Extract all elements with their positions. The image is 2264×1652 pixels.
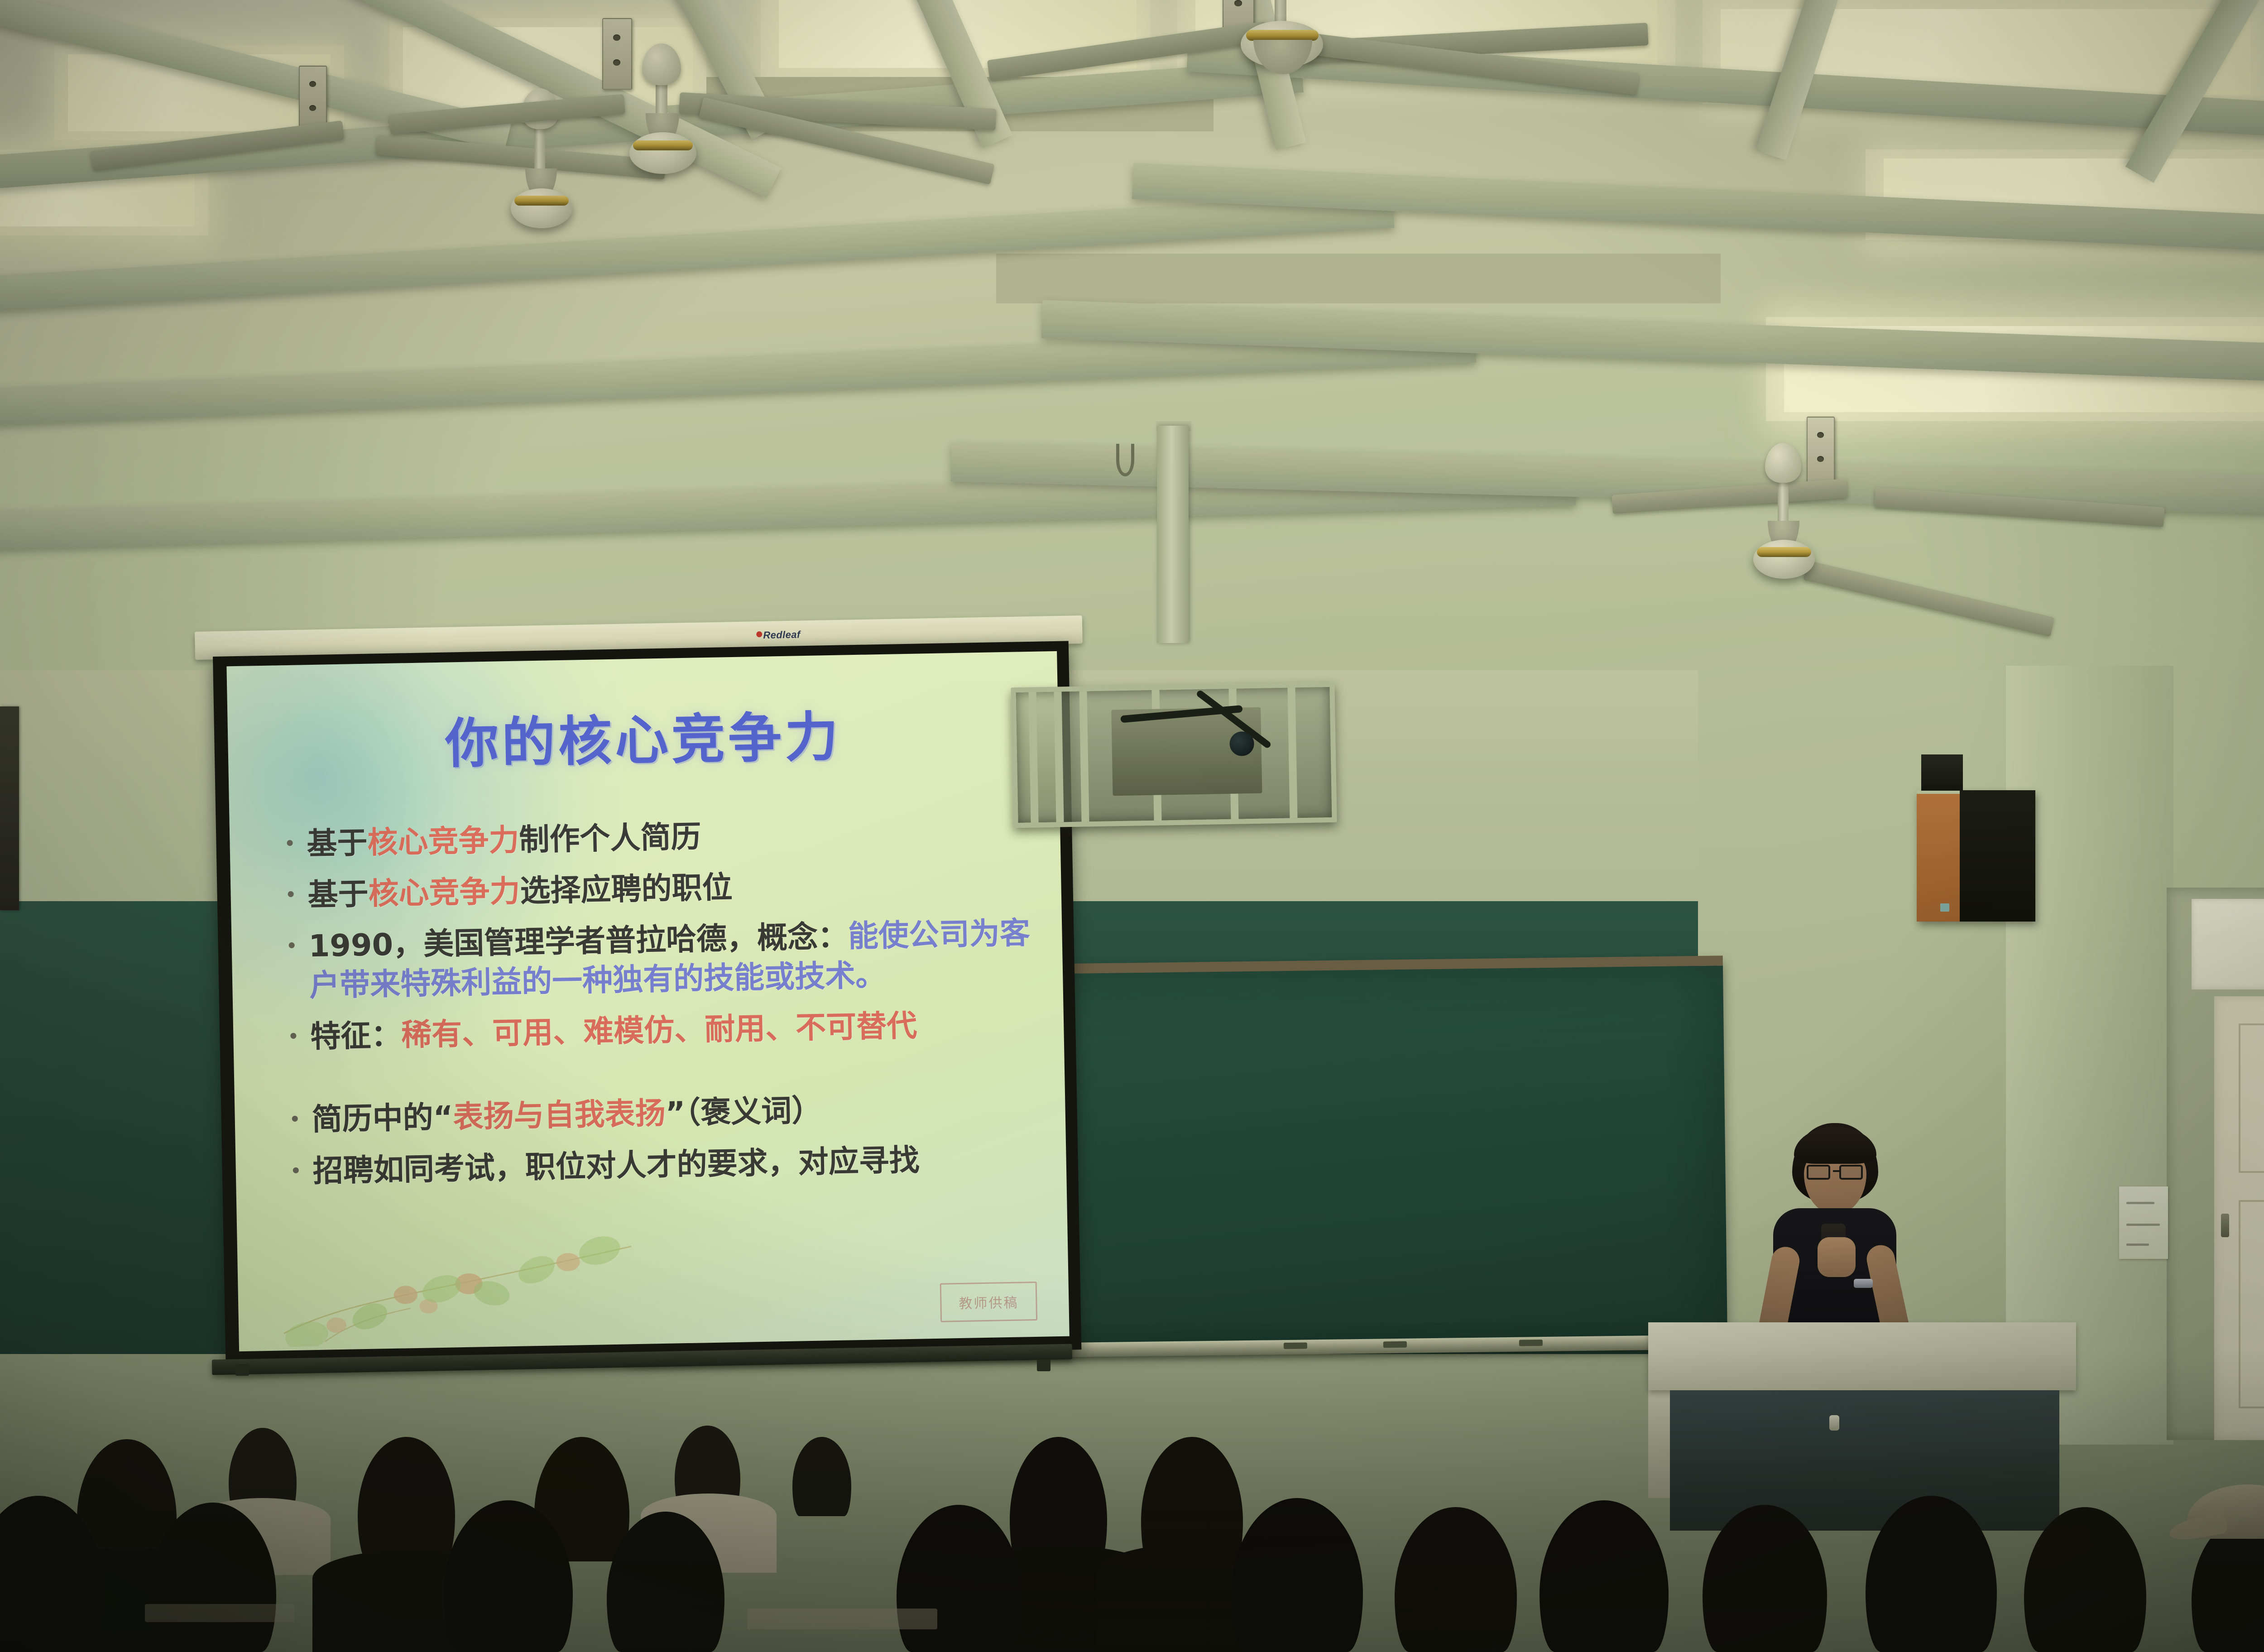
fan-mount bbox=[1807, 417, 1835, 485]
slide-bullet-segment: 核心竞争力 bbox=[368, 874, 520, 912]
slide-bullet-segment: 基于 bbox=[307, 825, 368, 861]
brand-dot-icon bbox=[756, 631, 762, 637]
slide-bullet-segment: ”（褒义词） bbox=[665, 1093, 822, 1131]
presenter-fringe bbox=[1794, 1127, 1876, 1164]
slide-bullet-segment: 稀有、可用、难模仿、耐用、不可替代 bbox=[401, 1008, 917, 1053]
presenter-hand bbox=[1818, 1237, 1856, 1277]
slide-watermark-text: 教师供稿 bbox=[959, 1292, 1019, 1312]
desk-surface bbox=[747, 1609, 937, 1629]
slide-bullet-segment: 表扬与自我表扬 bbox=[453, 1095, 666, 1135]
slide-bullet: 特征：稀有、可用、难模仿、耐用、不可替代 bbox=[284, 1004, 1037, 1057]
screen-brand-label: Redleaf bbox=[763, 629, 801, 641]
audience-head bbox=[1540, 1500, 1669, 1652]
projector-security-cage bbox=[1011, 682, 1337, 828]
glasses-bridge bbox=[1833, 1170, 1839, 1172]
door-handle[interactable] bbox=[2221, 1214, 2229, 1237]
glasses-icon bbox=[1839, 1165, 1863, 1180]
glasses-icon bbox=[1807, 1165, 1830, 1180]
door-panel bbox=[2239, 1023, 2264, 1173]
slide-bullet: 1990，美国管理学者普拉哈德，概念：能使公司为客户带来特殊利益的一种独有的技能… bbox=[282, 913, 1036, 1006]
lecture-hall-photo: Redleaf 你的核心竞争力 基于核心竞争力制作个人简历基于核心竞争力选择应聘… bbox=[0, 0, 2264, 1652]
ceiling bbox=[0, 0, 2264, 706]
slide-bullet-segment: 核心竞争力 bbox=[367, 822, 519, 860]
wall-panel-left bbox=[0, 706, 19, 910]
audience-head bbox=[1232, 1498, 1363, 1652]
slide-bullet-list: 基于核心竞争力制作个人简历基于核心竞争力选择应聘的职位1990，美国管理学者普拉… bbox=[280, 811, 1040, 1203]
audience-head bbox=[2024, 1507, 2146, 1652]
fan-mount bbox=[602, 18, 632, 90]
ceiling-fan bbox=[1753, 540, 1815, 579]
desk-surface bbox=[145, 1604, 294, 1622]
projected-slide: 你的核心竞争力 基于核心竞争力制作个人简历基于核心竞争力选择应聘的职位1990，… bbox=[226, 651, 1069, 1351]
projection-screen: 你的核心竞争力 基于核心竞争力制作个人简历基于核心竞争力选择应聘的职位1990，… bbox=[213, 641, 1081, 1365]
slide-bullet-segment: 制作个人简历 bbox=[519, 819, 701, 857]
seated-students bbox=[0, 1349, 2264, 1652]
slide-bullet-segment: 招聘如同考试，职位对人才的要求，对应寻找 bbox=[312, 1142, 920, 1189]
slide-bullet: 基于核心竞争力制作个人简历 bbox=[280, 811, 1033, 864]
audience-head bbox=[1703, 1505, 1827, 1652]
slide-bullet: 简历中的“表扬与自我表扬”（褒义词） bbox=[285, 1087, 1038, 1140]
floral-decoration-icon bbox=[255, 1222, 665, 1347]
wall-notice bbox=[2119, 1186, 2168, 1259]
slide-bullet-segment: 基于 bbox=[307, 876, 369, 912]
slide-bullet: 基于核心竞争力选择应聘的职位 bbox=[281, 862, 1034, 916]
slide-title: 你的核心竞争力 bbox=[227, 689, 1059, 782]
speaker-grille bbox=[1960, 790, 2035, 922]
audience-head bbox=[792, 1437, 851, 1516]
slide-bullet-segment: 特征： bbox=[310, 1018, 402, 1055]
projector-mast bbox=[1157, 426, 1189, 643]
speaker-logo-icon bbox=[1940, 903, 1949, 912]
audience-head bbox=[1866, 1496, 1997, 1652]
slide-bullet-segment: 简历中的“ bbox=[312, 1100, 453, 1138]
speaker-with-microphone bbox=[1757, 1123, 1911, 1340]
ceiling-hook-icon bbox=[1116, 444, 1134, 476]
wristwatch-icon bbox=[1854, 1279, 1873, 1288]
speaker-bracket bbox=[1921, 754, 1963, 791]
slide-bullet-segment: 选择应聘的职位 bbox=[520, 869, 733, 909]
wall-mounted-loudspeaker bbox=[1917, 790, 2035, 922]
fan-blade bbox=[1803, 561, 2055, 637]
audience-head bbox=[897, 1505, 1021, 1652]
audience-head bbox=[1395, 1507, 1517, 1652]
slide-bullet: 招聘如同考试，职位对人才的要求，对应寻找 bbox=[286, 1138, 1039, 1191]
slide-bullet-segment: 1990，美国管理学者普拉哈德，概念： bbox=[308, 919, 849, 964]
ceiling-fan bbox=[629, 132, 696, 174]
speaker-cabinet bbox=[1917, 794, 1960, 922]
transom-window bbox=[2192, 899, 2264, 989]
ceiling-fan bbox=[511, 188, 572, 228]
slide-watermark-stamp: 教师供稿 bbox=[940, 1282, 1038, 1322]
audience-head bbox=[358, 1437, 455, 1564]
